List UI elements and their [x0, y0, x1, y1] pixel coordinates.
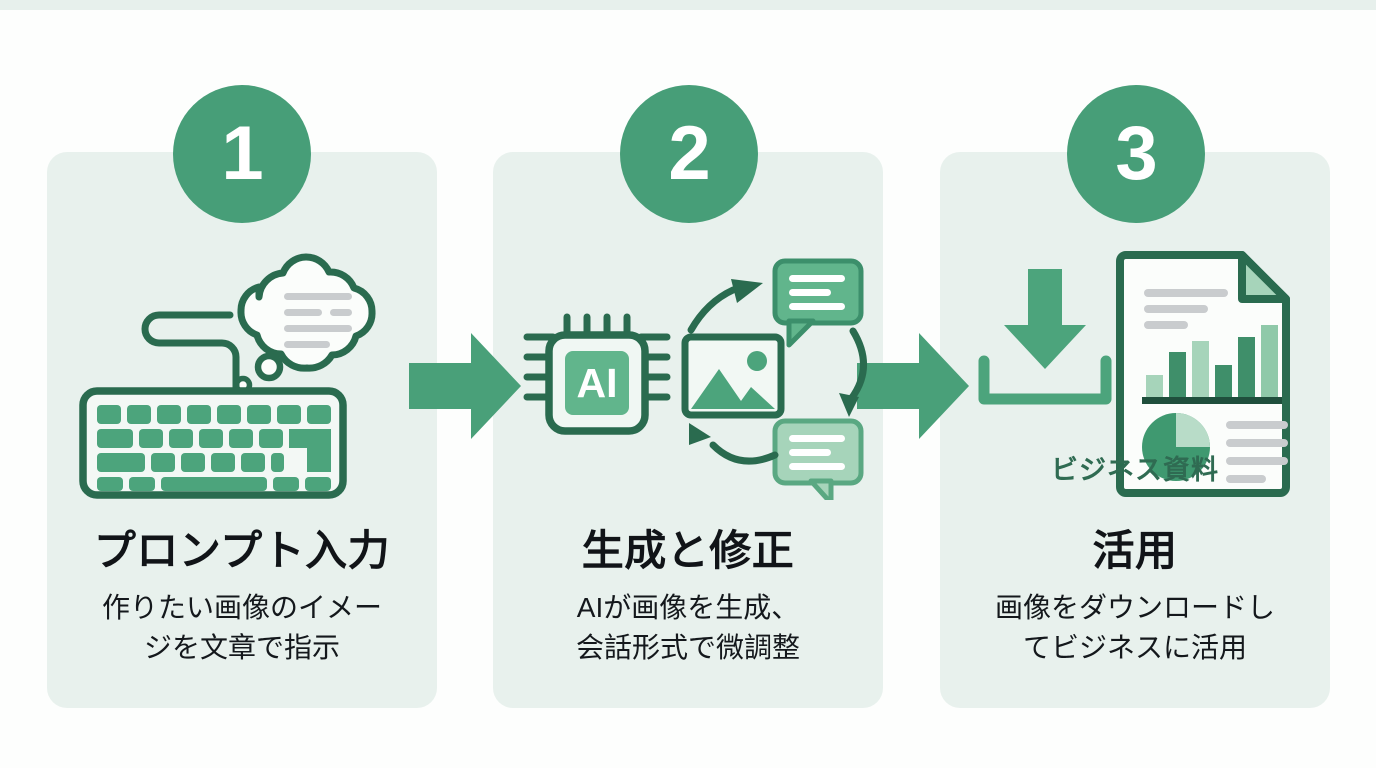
step-number-badge-2: 2 — [620, 85, 758, 223]
ai-chip-image-chat-cycle-icon: AI — [493, 245, 883, 500]
chip-label: AI — [577, 360, 618, 406]
business-material-caption: ビジネス資料 — [940, 448, 1330, 487]
infographic-stage: AI — [0, 0, 1376, 768]
step-description-1-line-2: ジを文章で指示 — [47, 628, 437, 668]
step-number-3: 3 — [1115, 116, 1156, 192]
step-number-2: 2 — [668, 116, 709, 192]
keyboard-thought-bubble-icon — [47, 245, 437, 500]
step-number-badge-3: 3 — [1067, 85, 1205, 223]
step-description-3: 画像をダウンロードし てビジネスに活用 — [940, 588, 1330, 668]
step-description-2-line-2: 会話形式で微調整 — [493, 628, 883, 668]
step-title-1: プロンプト入力 — [47, 517, 437, 578]
step-description-1-line-1: 作りたい画像のイメー — [47, 588, 437, 628]
step-title-2: 生成と修正 — [493, 517, 883, 578]
step-title-3: 活用 — [940, 517, 1330, 578]
step-number-1: 1 — [221, 116, 262, 192]
step-description-2-line-1: AIが画像を生成、 — [493, 588, 883, 628]
step-description-3-line-1: 画像をダウンロードし — [940, 588, 1330, 628]
step-number-badge-1: 1 — [173, 85, 311, 223]
step-description-2: AIが画像を生成、 会話形式で微調整 — [493, 588, 883, 668]
step-description-1: 作りたい画像のイメー ジを文章で指示 — [47, 588, 437, 668]
step-description-3-line-2: てビジネスに活用 — [940, 628, 1330, 668]
